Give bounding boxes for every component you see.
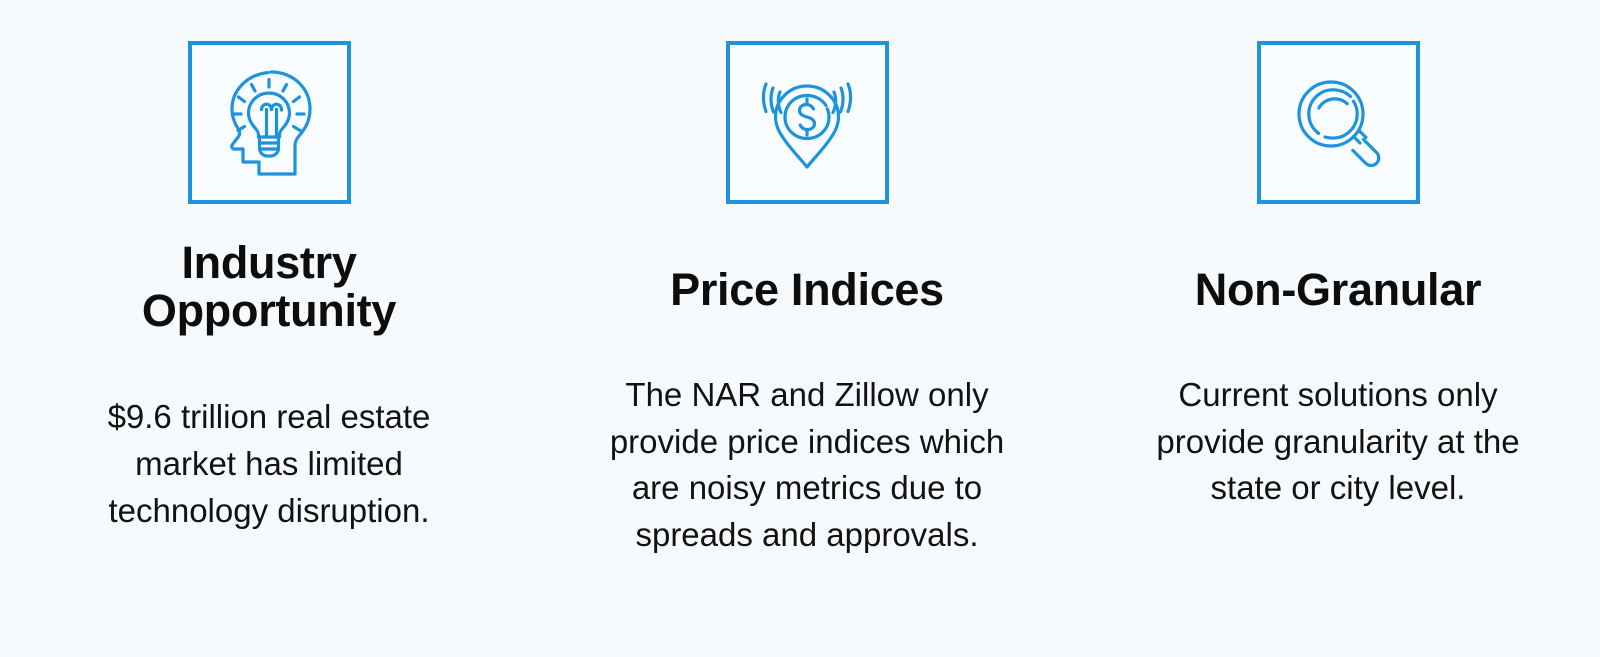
feature-column-price-indices: Price Indices The NAR and Zillow only pr… bbox=[538, 41, 1076, 559]
icon-frame-price-indices bbox=[726, 41, 889, 204]
head-lightbulb-icon bbox=[213, 64, 325, 182]
feature-heading-industry-opportunity: Industry Opportunity bbox=[59, 239, 479, 334]
slide-root: Industry Opportunity $9.6 trillion real … bbox=[0, 0, 1600, 657]
feature-body-price-indices: The NAR and Zillow only provide price in… bbox=[607, 372, 1007, 559]
feature-heading-non-granular: Non-Granular bbox=[1103, 266, 1573, 314]
location-pin-dollar-icon bbox=[751, 64, 863, 182]
magnifying-glass-icon bbox=[1282, 64, 1394, 182]
feature-column-non-granular: Non-Granular Current solutions only prov… bbox=[1076, 41, 1600, 512]
feature-body-non-granular: Current solutions only provide granulari… bbox=[1133, 372, 1543, 513]
feature-columns: Industry Opportunity $9.6 trillion real … bbox=[0, 0, 1600, 657]
feature-body-industry-opportunity: $9.6 trillion real estate market has lim… bbox=[79, 394, 459, 535]
feature-column-industry-opportunity: Industry Opportunity $9.6 trillion real … bbox=[0, 41, 538, 535]
icon-frame-industry-opportunity bbox=[188, 41, 351, 204]
feature-heading-price-indices: Price Indices bbox=[577, 266, 1037, 314]
icon-frame-non-granular bbox=[1257, 41, 1420, 204]
